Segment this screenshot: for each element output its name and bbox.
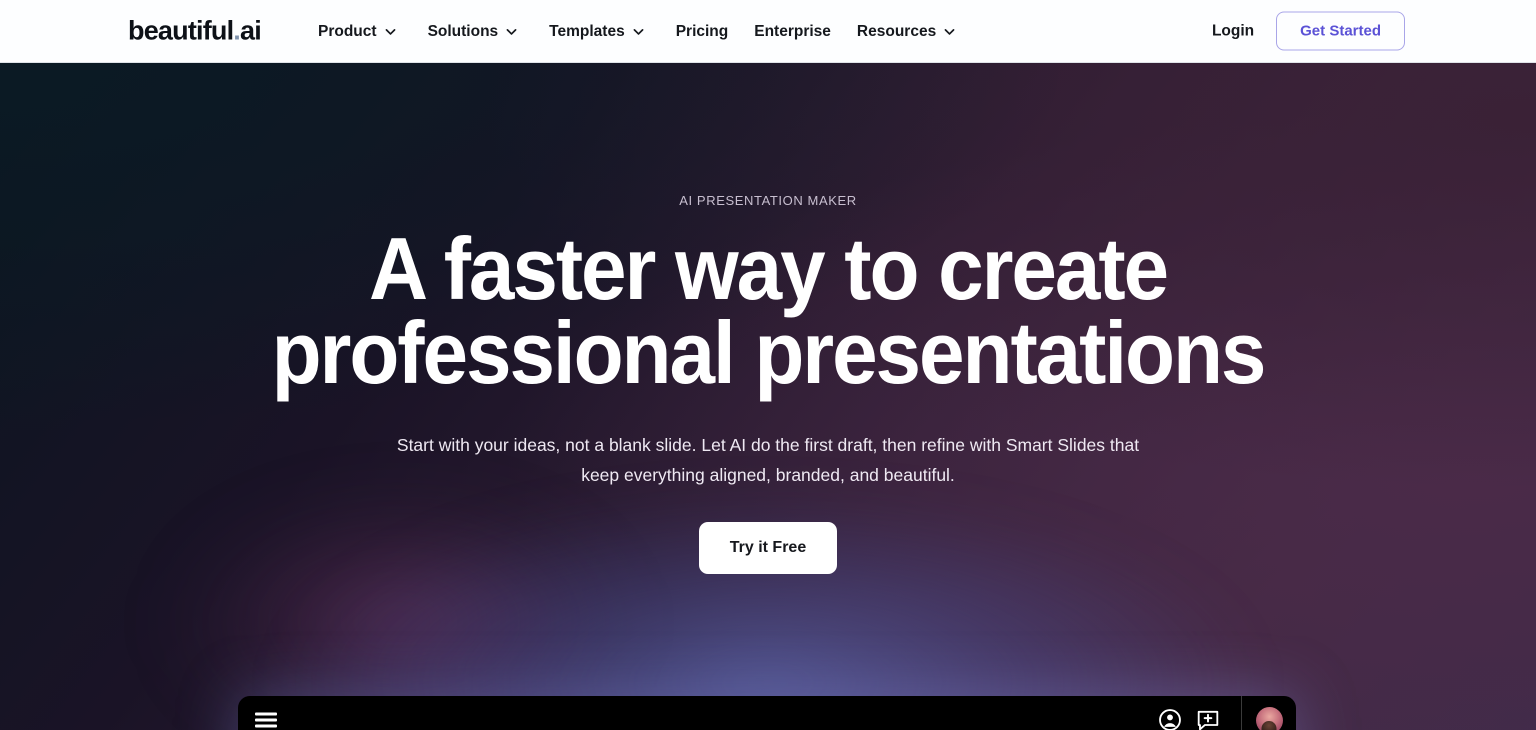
hamburger-menu-icon[interactable] bbox=[255, 713, 277, 728]
hamburger-bar bbox=[255, 719, 277, 722]
chevron-down-icon bbox=[943, 25, 956, 38]
app-mockup bbox=[238, 696, 1296, 730]
hero-subheadline-line-1: Start with your ideas, not a blank slide… bbox=[397, 435, 1053, 455]
nav-item-enterprise-label: Enterprise bbox=[754, 23, 831, 41]
hero-headline-line-2: professional presentations bbox=[54, 311, 1482, 395]
account-circle-icon[interactable] bbox=[1157, 707, 1183, 730]
hero-section: AI PRESENTATION MAKER A faster way to cr… bbox=[0, 63, 1536, 730]
nav-item-pricing[interactable]: Pricing bbox=[676, 0, 729, 63]
nav-actions: Login Get Started bbox=[1212, 12, 1405, 51]
get-started-button[interactable]: Get Started bbox=[1276, 12, 1405, 51]
try-it-free-button[interactable]: Try it Free bbox=[699, 522, 837, 574]
hamburger-bar bbox=[255, 713, 277, 716]
nav-item-templates-label: Templates bbox=[549, 23, 625, 41]
brand-logo-suffix: ai bbox=[240, 16, 261, 46]
primary-nav-links: Product Solutions Templates Pricing Ente… bbox=[318, 0, 987, 63]
brand-logo-main: beautiful bbox=[128, 16, 233, 46]
nav-item-product-label: Product bbox=[318, 23, 377, 41]
hero-cta-container: Try it Free bbox=[0, 522, 1536, 574]
user-avatar[interactable] bbox=[1256, 707, 1283, 730]
chevron-down-icon bbox=[505, 25, 518, 38]
hero-content: AI PRESENTATION MAKER A faster way to cr… bbox=[0, 193, 1536, 574]
nav-item-solutions[interactable]: Solutions bbox=[428, 0, 519, 63]
add-comment-icon[interactable] bbox=[1195, 707, 1221, 730]
hero-headline: A faster way to create professional pres… bbox=[54, 227, 1482, 396]
login-link[interactable]: Login bbox=[1212, 22, 1254, 40]
app-toolbar-actions bbox=[1157, 696, 1296, 730]
nav-item-resources-label: Resources bbox=[857, 23, 936, 41]
chevron-down-icon bbox=[384, 25, 397, 38]
nav-item-solutions-label: Solutions bbox=[428, 23, 499, 41]
nav-item-resources[interactable]: Resources bbox=[857, 0, 956, 63]
hamburger-bar bbox=[255, 725, 277, 728]
top-navigation-bar: beautiful.ai Product Solutions Templates… bbox=[0, 0, 1536, 63]
nav-item-enterprise[interactable]: Enterprise bbox=[754, 0, 831, 63]
brand-logo-dot: . bbox=[233, 16, 240, 46]
app-toolbar bbox=[238, 696, 1296, 730]
nav-item-pricing-label: Pricing bbox=[676, 23, 729, 41]
hero-eyebrow: AI PRESENTATION MAKER bbox=[0, 193, 1536, 208]
nav-item-templates[interactable]: Templates bbox=[549, 0, 645, 63]
nav-item-product[interactable]: Product bbox=[318, 0, 397, 63]
hero-subheadline: Start with your ideas, not a blank slide… bbox=[388, 430, 1148, 490]
avatar-container bbox=[1242, 696, 1296, 730]
brand-logo[interactable]: beautiful.ai bbox=[128, 16, 261, 47]
chevron-down-icon bbox=[632, 25, 645, 38]
